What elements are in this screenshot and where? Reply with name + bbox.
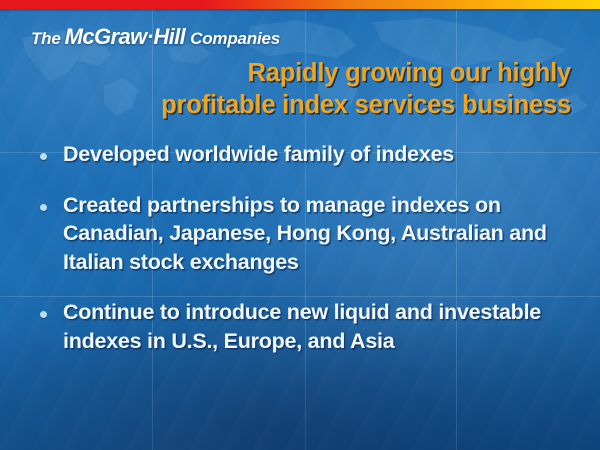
bullet-item-text: Developed worldwide family of indexes (63, 140, 578, 169)
bullet-dot-icon (40, 204, 47, 211)
mcgraw-hill-logo: TheMcGraw·HillCompanies (31, 24, 280, 50)
top-gradient-rule (0, 0, 600, 9)
slide-title-line-1: Rapidly growing our highly (71, 57, 571, 89)
slide-title: Rapidly growing our highly profitable in… (71, 57, 571, 121)
bullet-item: Developed worldwide family of indexes (40, 140, 578, 169)
presentation-slide: TheMcGraw·HillCompanies Rapidly growing … (0, 0, 600, 450)
logo-word-companies: Companies (190, 29, 280, 48)
bullet-list: Developed worldwide family of indexes Cr… (40, 140, 578, 378)
bullet-item-text: Created partnerships to manage indexes o… (63, 191, 578, 277)
bullet-dot-icon (40, 153, 47, 160)
bullet-item: Continue to introduce new liquid and inv… (40, 298, 578, 355)
logo-word-mcgraw-hill: McGraw·Hill (65, 24, 186, 49)
bullet-item-text: Continue to introduce new liquid and inv… (63, 298, 578, 355)
bullet-item: Created partnerships to manage indexes o… (40, 191, 578, 277)
slide-title-line-2: profitable index services business (71, 89, 571, 121)
top-rule-shadow (0, 9, 600, 12)
bullet-dot-icon (40, 311, 47, 318)
logo-word-the: The (31, 29, 61, 48)
